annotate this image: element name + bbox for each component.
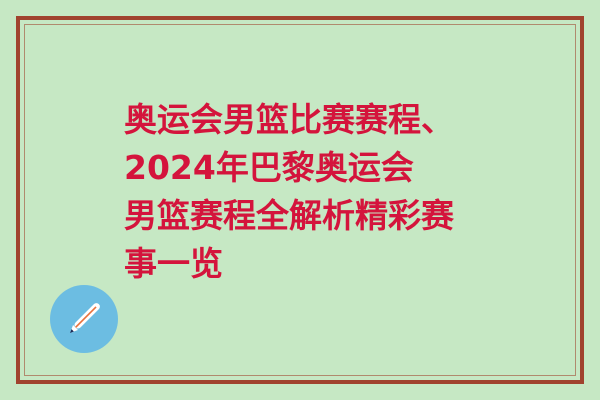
headline-block: 奥运会男篮比赛赛程、 2024年巴黎奥运会 男篮赛程全解析精彩赛 事一览 [124,96,504,288]
pen-badge [50,285,118,353]
headline-line-4: 事一览 [124,240,504,288]
headline-line-2: 2024年巴黎奥运会 [124,144,504,192]
pen-icon [50,285,118,353]
poster-canvas: 奥运会男篮比赛赛程、 2024年巴黎奥运会 男篮赛程全解析精彩赛 事一览 [0,0,600,400]
headline-line-1: 奥运会男篮比赛赛程、 [124,96,504,144]
headline-line-3: 男篮赛程全解析精彩赛 [124,192,504,240]
